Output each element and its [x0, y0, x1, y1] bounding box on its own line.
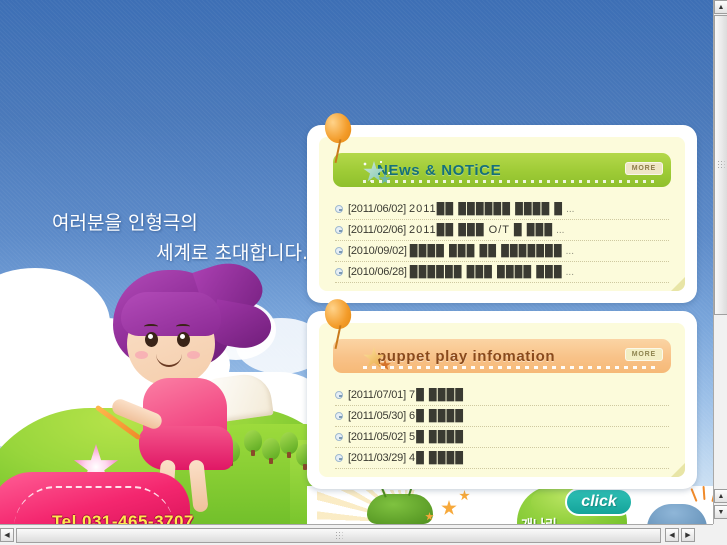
horizontal-scroll-thumb[interactable]	[16, 528, 661, 543]
list-item-title: 7█ ████	[409, 389, 464, 401]
list-item-date: [2011/02/06]	[348, 224, 406, 236]
list-item[interactable]: [2010/09/02] ████ ███ ██ ███████ ...	[335, 241, 669, 262]
header-dotted-rule	[363, 180, 657, 183]
spark-line	[690, 488, 697, 502]
list-item[interactable]: [2011/03/29] 4█ ████	[335, 448, 669, 469]
bullet-icon	[335, 247, 343, 255]
eyebrow	[144, 324, 158, 329]
bullet-icon	[335, 268, 343, 276]
bullet-icon	[335, 433, 343, 441]
scroll-thumb-grip	[335, 531, 342, 540]
list-item[interactable]: [2011/02/06] 2011██ ███ O/T █ ███ ...	[335, 220, 669, 241]
list-item-title: 2011██ ███ O/T █ ███	[409, 224, 553, 236]
news-panel-body: NEws & NOTiCE MORE [2011/06/02] 2011██ █…	[319, 137, 685, 291]
list-item-title: 2011██ ██████ ████ █	[409, 203, 563, 215]
bullet-icon	[335, 454, 343, 462]
scroll-down-button[interactable]: ▼	[714, 505, 727, 519]
list-item[interactable]: [2011/07/01] 7█ ████	[335, 385, 669, 406]
scroll-thumb-grip	[718, 161, 725, 170]
bottom-content-strip: 개나리 click	[307, 486, 713, 524]
spark-line	[703, 486, 706, 500]
list-item[interactable]: [2011/05/30] 6█ ████	[335, 406, 669, 427]
news-list: [2011/06/02] 2011██ ██████ ████ █ ... [2…	[335, 199, 669, 283]
list-item-date: [2011/03/29]	[348, 452, 406, 464]
scroll-up-button-bottom[interactable]: ▲	[714, 489, 727, 503]
click-button[interactable]: click	[565, 488, 633, 516]
play-list: [2011/07/01] 7█ ████ [2011/05/30] 6█ ███…	[335, 385, 669, 469]
scroll-up-button[interactable]: ▲	[714, 0, 727, 14]
hair-bangs	[121, 292, 221, 336]
bullet-icon	[335, 205, 343, 213]
horizontal-scrollbar[interactable]: ◀ ◀ ▶	[0, 524, 713, 545]
play-panel-header: puppet play infomation MORE	[333, 339, 671, 373]
list-item[interactable]: [2011/05/02] 5█ ████	[335, 427, 669, 448]
play-more-button[interactable]: MORE	[625, 348, 663, 361]
eyebrow	[176, 324, 190, 329]
bullet-icon	[335, 391, 343, 399]
eye	[177, 332, 190, 347]
list-item-ellipsis: ...	[566, 246, 574, 257]
scroll-left-button-end[interactable]: ◀	[665, 528, 679, 542]
puppet-play-panel: puppet play infomation MORE [2011/07/01]…	[307, 311, 697, 489]
list-item-date: [2011/06/02]	[348, 203, 406, 215]
list-item-title: ██████ ███ ████ ███	[410, 266, 563, 278]
green-banner-label: 개나리	[521, 514, 557, 524]
vertical-scroll-thumb[interactable]	[714, 15, 727, 315]
list-item-title: 6█ ████	[409, 410, 464, 422]
play-panel-body: puppet play infomation MORE [2011/07/01]…	[319, 323, 685, 477]
headline-line-2: 세계로 초대합니다.	[52, 238, 308, 268]
eye	[145, 332, 158, 347]
page-headline: 여러분을 인형극의 세계로 초대합니다.	[52, 208, 308, 268]
play-panel-title: puppet play infomation	[377, 348, 555, 365]
cheek-blush	[135, 351, 148, 359]
news-notice-panel: NEws & NOTiCE MORE [2011/06/02] 2011██ █…	[307, 125, 697, 303]
bullet-icon	[335, 412, 343, 420]
list-item-ellipsis: ...	[556, 225, 564, 236]
list-item-title: 5█ ████	[409, 431, 464, 443]
cheek-blush	[187, 351, 200, 359]
list-item-date: [2010/09/02]	[348, 245, 407, 257]
green-bug-illustration	[367, 494, 433, 524]
list-item-ellipsis: ...	[566, 204, 574, 215]
headline-line-1: 여러분을 인형극의	[52, 212, 198, 234]
telephone-number: Tel 031-465-3707	[52, 512, 242, 524]
star-sparkle-icon	[459, 490, 470, 501]
list-item-ellipsis: ...	[566, 267, 574, 278]
scroll-right-button[interactable]: ▶	[681, 528, 695, 542]
list-item-title: 4█ ████	[409, 452, 464, 464]
list-item-date: [2011/05/02]	[348, 431, 406, 443]
list-item-date: [2011/07/01]	[348, 389, 406, 401]
browser-viewport: Tel 031-465-3707 여러분을 인형극의 세계로 초대합니다. 개나…	[0, 0, 713, 524]
star-sparkle-icon	[441, 500, 457, 516]
list-item[interactable]: [2010/06/28] ██████ ███ ████ ███ ...	[335, 262, 669, 283]
dress-skirt	[139, 426, 233, 470]
vertical-scrollbar[interactable]: ▲ ▲ ▼	[713, 0, 727, 524]
news-panel-title: NEws & NOTiCE	[377, 162, 501, 179]
bullet-icon	[335, 226, 343, 234]
news-more-button[interactable]: MORE	[625, 162, 663, 175]
blue-blob-illustration	[647, 504, 707, 524]
list-item-title: ████ ███ ██ ███████	[410, 245, 563, 257]
scrollbar-corner	[713, 524, 727, 545]
list-item[interactable]: [2011/06/02] 2011██ ██████ ████ █ ...	[335, 199, 669, 220]
header-dotted-rule	[363, 366, 657, 369]
list-item-date: [2011/05/30]	[348, 410, 406, 422]
list-item-date: [2010/06/28]	[348, 266, 407, 278]
scroll-left-button[interactable]: ◀	[0, 528, 14, 542]
news-panel-header: NEws & NOTiCE MORE	[333, 153, 671, 187]
